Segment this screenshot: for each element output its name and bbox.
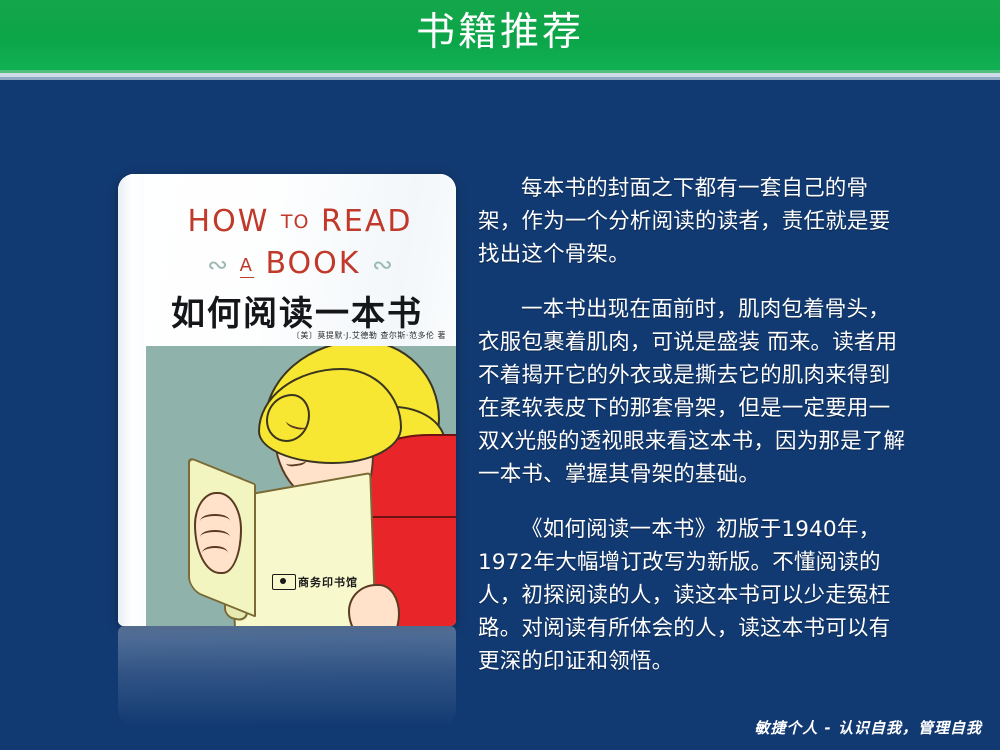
cover-title-read: READ [321, 204, 412, 239]
cover-title-how: HOW [188, 204, 270, 239]
book-cover-image: HOW TO READ ∾ A BOOK ∾ 如何阅读一本书 〔美〕莫提默·J.… [118, 174, 456, 626]
publisher-name: 商务印书馆 [298, 574, 358, 590]
swirl-right-icon: ∾ [372, 250, 393, 279]
footer-tagline: 敏捷个人 - 认识自我，管理自我 [754, 717, 982, 738]
body-text-column: 每本书的封面之下都有一套自己的骨架，作为一个分析阅读的读者，责任就是要找出这个骨… [478, 172, 910, 700]
header-divider-grey [0, 77, 1000, 80]
reflection-inner [118, 626, 456, 726]
page-title: 书籍推荐 [0, 2, 1000, 64]
book-cover-reflection [118, 626, 456, 726]
cover-title-to: TO [281, 211, 310, 233]
book-cover-card: HOW TO READ ∾ A BOOK ∾ 如何阅读一本书 〔美〕莫提默·J.… [118, 174, 456, 626]
reflection-tint-overlay [118, 626, 456, 726]
cover-title-a: A [240, 255, 254, 278]
cover-english-title-line2: ∾ A BOOK ∾ [144, 246, 456, 281]
illustration-finger [200, 530, 230, 544]
cover-english-title-line1: HOW TO READ [144, 204, 456, 239]
cover-title-book: BOOK [265, 246, 360, 281]
slide-canvas: 书籍推荐 HOW TO READ ∾ A BOOK ∾ 如何阅读一本书 〔美〕莫… [0, 0, 1000, 750]
cover-authors-line: 〔美〕莫提默·J.艾德勒 查尔斯·范多伦 著 [144, 330, 446, 341]
paragraph-1: 每本书的封面之下都有一套自己的骨架，作为一个分析阅读的读者，责任就是要找出这个骨… [478, 172, 910, 271]
publisher-emblem-icon [272, 574, 296, 590]
cover-spine-highlight [118, 174, 144, 626]
illustration-finger [202, 546, 228, 560]
paragraph-2: 一本书出现在面前时，肌肉包着骨头，衣服包裹着肌肉，可说是盛装 而来。读者用不着揭… [478, 293, 910, 491]
paragraph-3: 《如何阅读一本书》初版于1940年，1972年大幅增订改写为新版。不懂阅读的人，… [478, 513, 910, 678]
illustration-finger [200, 514, 230, 528]
swirl-left-icon: ∾ [207, 250, 228, 279]
cover-chinese-title: 如何阅读一本书 [138, 286, 456, 335]
cover-illustration: 商务印书馆 [146, 346, 456, 626]
